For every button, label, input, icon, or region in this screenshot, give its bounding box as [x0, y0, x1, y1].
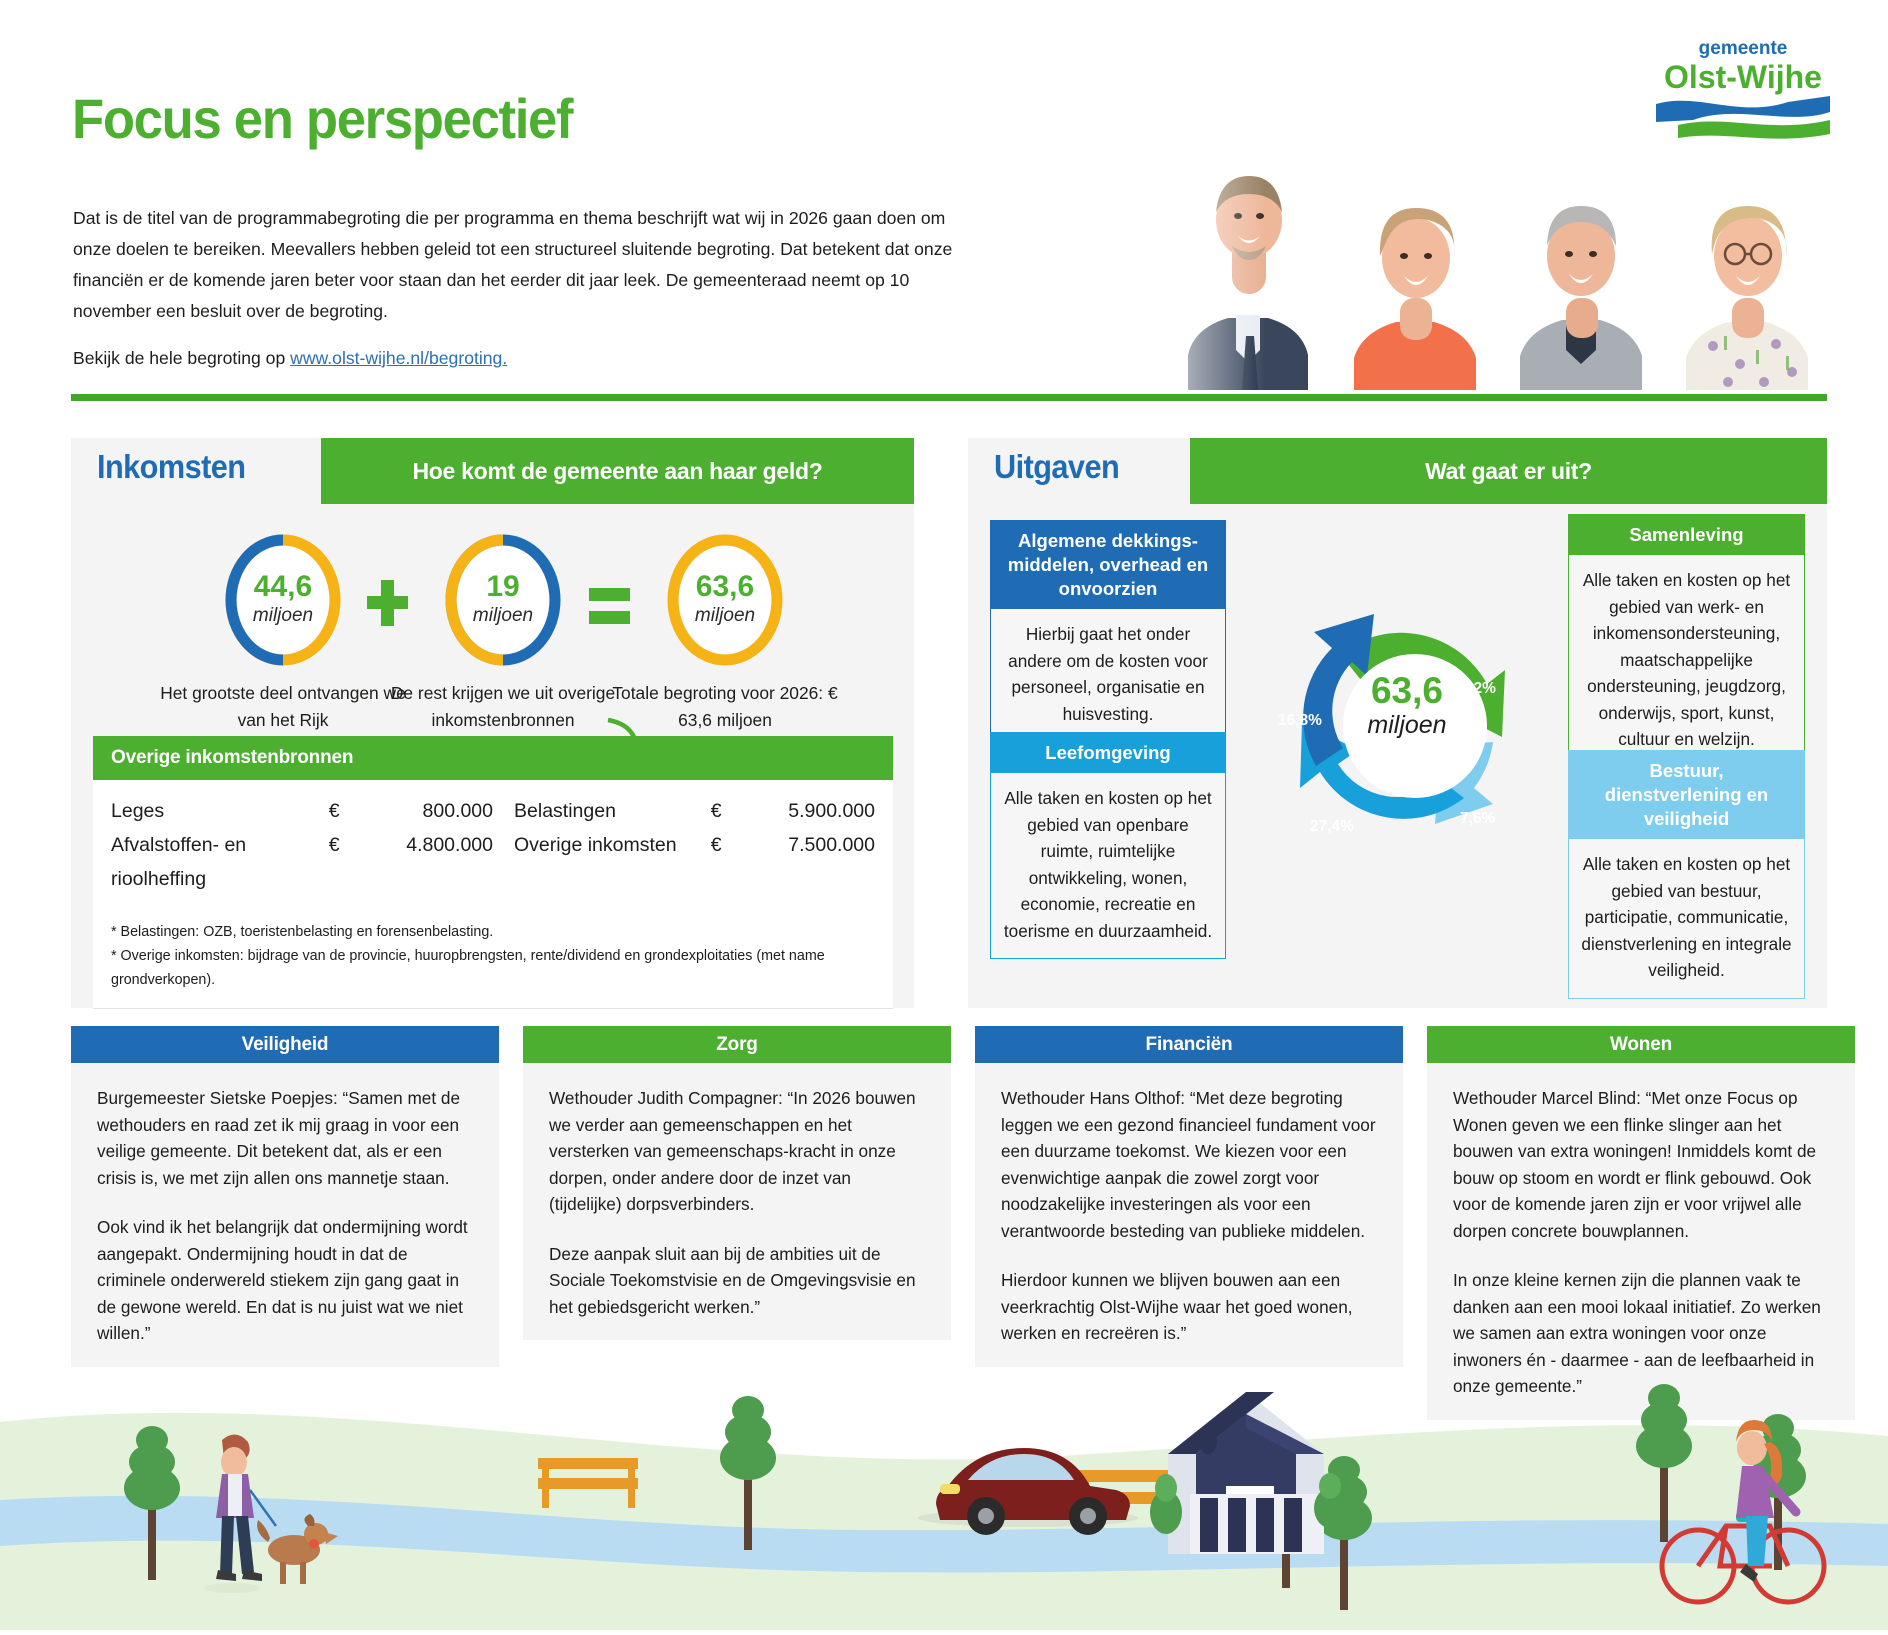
table-note-2: * Overige inkomsten: bijdrage van de pro… [111, 944, 875, 992]
quote-financien-p1: Wethouder Hans Olthof: “Met deze begroti… [1001, 1085, 1377, 1244]
cycle-center-value: 63,6 [1322, 672, 1492, 709]
box-samenleving-body: Alle taken en kosten op het gebied van w… [1569, 555, 1804, 767]
uitgaven-title: Uitgaven [994, 448, 1119, 486]
box-leefomgeving-head: Leefomgeving [991, 733, 1225, 773]
overige-inkomstenbronnen-card: Overige inkomstenbronnen Leges € 800.000… [93, 736, 893, 1009]
uitgaven-header: Uitgaven Wat gaat er uit? [968, 438, 1827, 504]
quote-head-wonen: Wonen [1427, 1026, 1855, 1063]
cycle-center-label: 63,6 miljoen [1322, 672, 1492, 740]
quote-body-financien: Wethouder Hans Olthof: “Met deze begroti… [975, 1063, 1403, 1367]
quote-financien-p2: Hierdoor kunnen we blijven bouwen aan ee… [1001, 1267, 1377, 1347]
row1-label: Leges [111, 794, 329, 828]
gemeente-logo[interactable]: gemeente Olst-Wijhe [1638, 30, 1848, 140]
row2-label: Afvalstoffen- en rioolheffing [111, 828, 329, 896]
inkomsten-circles: 44,6 miljoen Het grootste deel ontvangen… [71, 520, 914, 720]
table-note-1: * Belastingen: OZB, toeristenbelasting e… [111, 920, 875, 944]
income-donut-2: 19 miljoen [441, 530, 565, 670]
income-donut-1-value: 44,6 [221, 572, 345, 602]
income-donut-2-unit: miljoen [441, 605, 565, 627]
quote-cards-row: Veiligheid Burgemeester Sietske Poepjes:… [0, 1026, 1888, 1376]
row2-currency2: € [711, 828, 749, 896]
header-divider [71, 394, 1827, 401]
box-algemene-dekkingsmiddelen: Algemene dekkings-middelen, overhead en … [990, 520, 1226, 742]
page-header: Focus en perspectief Dat is de titel van… [0, 0, 1888, 420]
quote-head-zorg: Zorg [523, 1026, 951, 1063]
box-samenleving-head: Samenleving [1569, 515, 1804, 555]
box-leefomgeving-body: Alle taken en kosten op het gebied van o… [991, 773, 1225, 958]
cycle-center-unit: miljoen [1322, 711, 1492, 740]
row1-currency2: € [711, 794, 749, 828]
table-row: Leges € 800.000 Belastingen € 5.900.000 [111, 794, 875, 828]
row1-label2: Belastingen [514, 794, 711, 828]
logo-gemeente-text: gemeente [1699, 38, 1788, 59]
intro-paragraph: Dat is de titel van de programmabegrotin… [73, 203, 973, 327]
row1-amount2: 5.900.000 [749, 794, 875, 828]
box-bestuur-body: Alle taken en kosten op het gebied van b… [1569, 839, 1804, 998]
college-photo [1128, 150, 1888, 390]
row2-currency: € [329, 828, 367, 896]
row2-amount: 4.800.000 [367, 828, 493, 896]
quote-head-financien: Financiën [975, 1026, 1403, 1063]
quote-head-veiligheid: Veiligheid [71, 1026, 499, 1063]
inkomsten-banner: Hoe komt de gemeente aan haar geld? [321, 438, 914, 504]
row1-amount: 800.000 [367, 794, 493, 828]
quote-card-zorg: Zorg Wethouder Judith Compagner: “In 202… [523, 1026, 951, 1340]
income-donut-1: 44,6 miljoen [221, 530, 345, 670]
row2-amount2: 7.500.000 [749, 828, 875, 896]
quote-zorg-p2: Deze aanpak sluit aan bij de ambities ui… [549, 1241, 925, 1321]
table-row: Afvalstoffen- en rioolheffing € 4.800.00… [111, 828, 875, 896]
begroting-link[interactable]: www.olst-wijhe.nl/begroting. [290, 348, 507, 368]
page-title: Focus en perspectief [72, 86, 572, 151]
quote-zorg-p1: Wethouder Judith Compagner: “In 2026 bou… [549, 1085, 925, 1218]
overige-inkomstenbronnen-table: Leges € 800.000 Belastingen € 5.900.000 … [93, 780, 893, 908]
box-bestuur-dienstverlening: Bestuur, dienstverlening en veiligheid A… [1568, 750, 1805, 999]
pct-bestuur: 7,6% [1460, 810, 1495, 828]
income-donut-2-value: 19 [441, 572, 565, 602]
box-algemene-head: Algemene dekkings-middelen, overhead en … [991, 521, 1225, 609]
pct-leefomgeving: 27,4% [1310, 818, 1354, 836]
quote-body-veiligheid: Burgemeester Sietske Poepjes: “Samen met… [71, 1063, 499, 1367]
quote-body-zorg: Wethouder Judith Compagner: “In 2026 bou… [523, 1063, 951, 1340]
link-prefix-text: Bekijk de hele begroting op [73, 348, 290, 368]
income-donut-1-unit: miljoen [221, 605, 345, 627]
quote-card-wonen: Wonen Wethouder Marcel Blind: “Met onze … [1427, 1026, 1855, 1420]
panels-row: Inkomsten Hoe komt de gemeente aan haar … [0, 438, 1888, 1008]
quote-card-financien: Financiën Wethouder Hans Olthof: “Met de… [975, 1026, 1403, 1367]
box-algemene-body: Hierbij gaat het onder andere om de kost… [991, 609, 1225, 741]
equals-operator-icon [587, 580, 631, 634]
begroting-link-row: Bekijk de hele begroting op www.olst-wij… [73, 348, 507, 369]
inkomsten-header: Inkomsten Hoe komt de gemeente aan haar … [71, 438, 914, 504]
table-notes: * Belastingen: OZB, toeristenbelasting e… [93, 908, 893, 1008]
income-donut-3: 63,6 miljoen [663, 530, 787, 670]
income-caption-2: De rest krijgen we uit overige inkomsten… [373, 680, 633, 734]
quote-veiligheid-p1: Burgemeester Sietske Poepjes: “Samen met… [97, 1085, 473, 1191]
curved-arrow-icon [598, 712, 668, 797]
uitgaven-banner: Wat gaat er uit? [1190, 438, 1827, 504]
landscape-illustration [0, 1370, 1888, 1630]
inkomsten-panel: Inkomsten Hoe komt de gemeente aan haar … [71, 438, 914, 1008]
income-donut-3-unit: miljoen [663, 605, 787, 627]
logo-wave-blue [1656, 96, 1830, 122]
box-bestuur-head: Bestuur, dienstverlening en veiligheid [1569, 751, 1804, 839]
pct-algemene: 16,8% [1278, 712, 1322, 730]
house-icon [1150, 1370, 1346, 1554]
quote-veiligheid-p2: Ook vind ik het belangrijk dat ondermijn… [97, 1214, 473, 1347]
plus-operator-icon [365, 576, 409, 630]
logo-name-text: Olst-Wijhe [1664, 59, 1822, 95]
quote-card-veiligheid: Veiligheid Burgemeester Sietske Poepjes:… [71, 1026, 499, 1367]
box-leefomgeving: Leefomgeving Alle taken en kosten op het… [990, 732, 1226, 959]
quote-body-wonen: Wethouder Marcel Blind: “Met onze Focus … [1427, 1063, 1855, 1420]
row1-currency: € [329, 794, 367, 828]
logo-wave-green [1678, 120, 1830, 139]
box-samenleving: Samenleving Alle taken en kosten op het … [1568, 514, 1805, 768]
quote-wonen-p1: Wethouder Marcel Blind: “Met onze Focus … [1453, 1085, 1829, 1244]
overige-inkomstenbronnen-heading: Overige inkomstenbronnen [93, 736, 893, 780]
row2-label2: Overige inkomsten [514, 828, 711, 896]
income-donut-3-value: 63,6 [663, 572, 787, 602]
inkomsten-title: Inkomsten [97, 448, 245, 486]
